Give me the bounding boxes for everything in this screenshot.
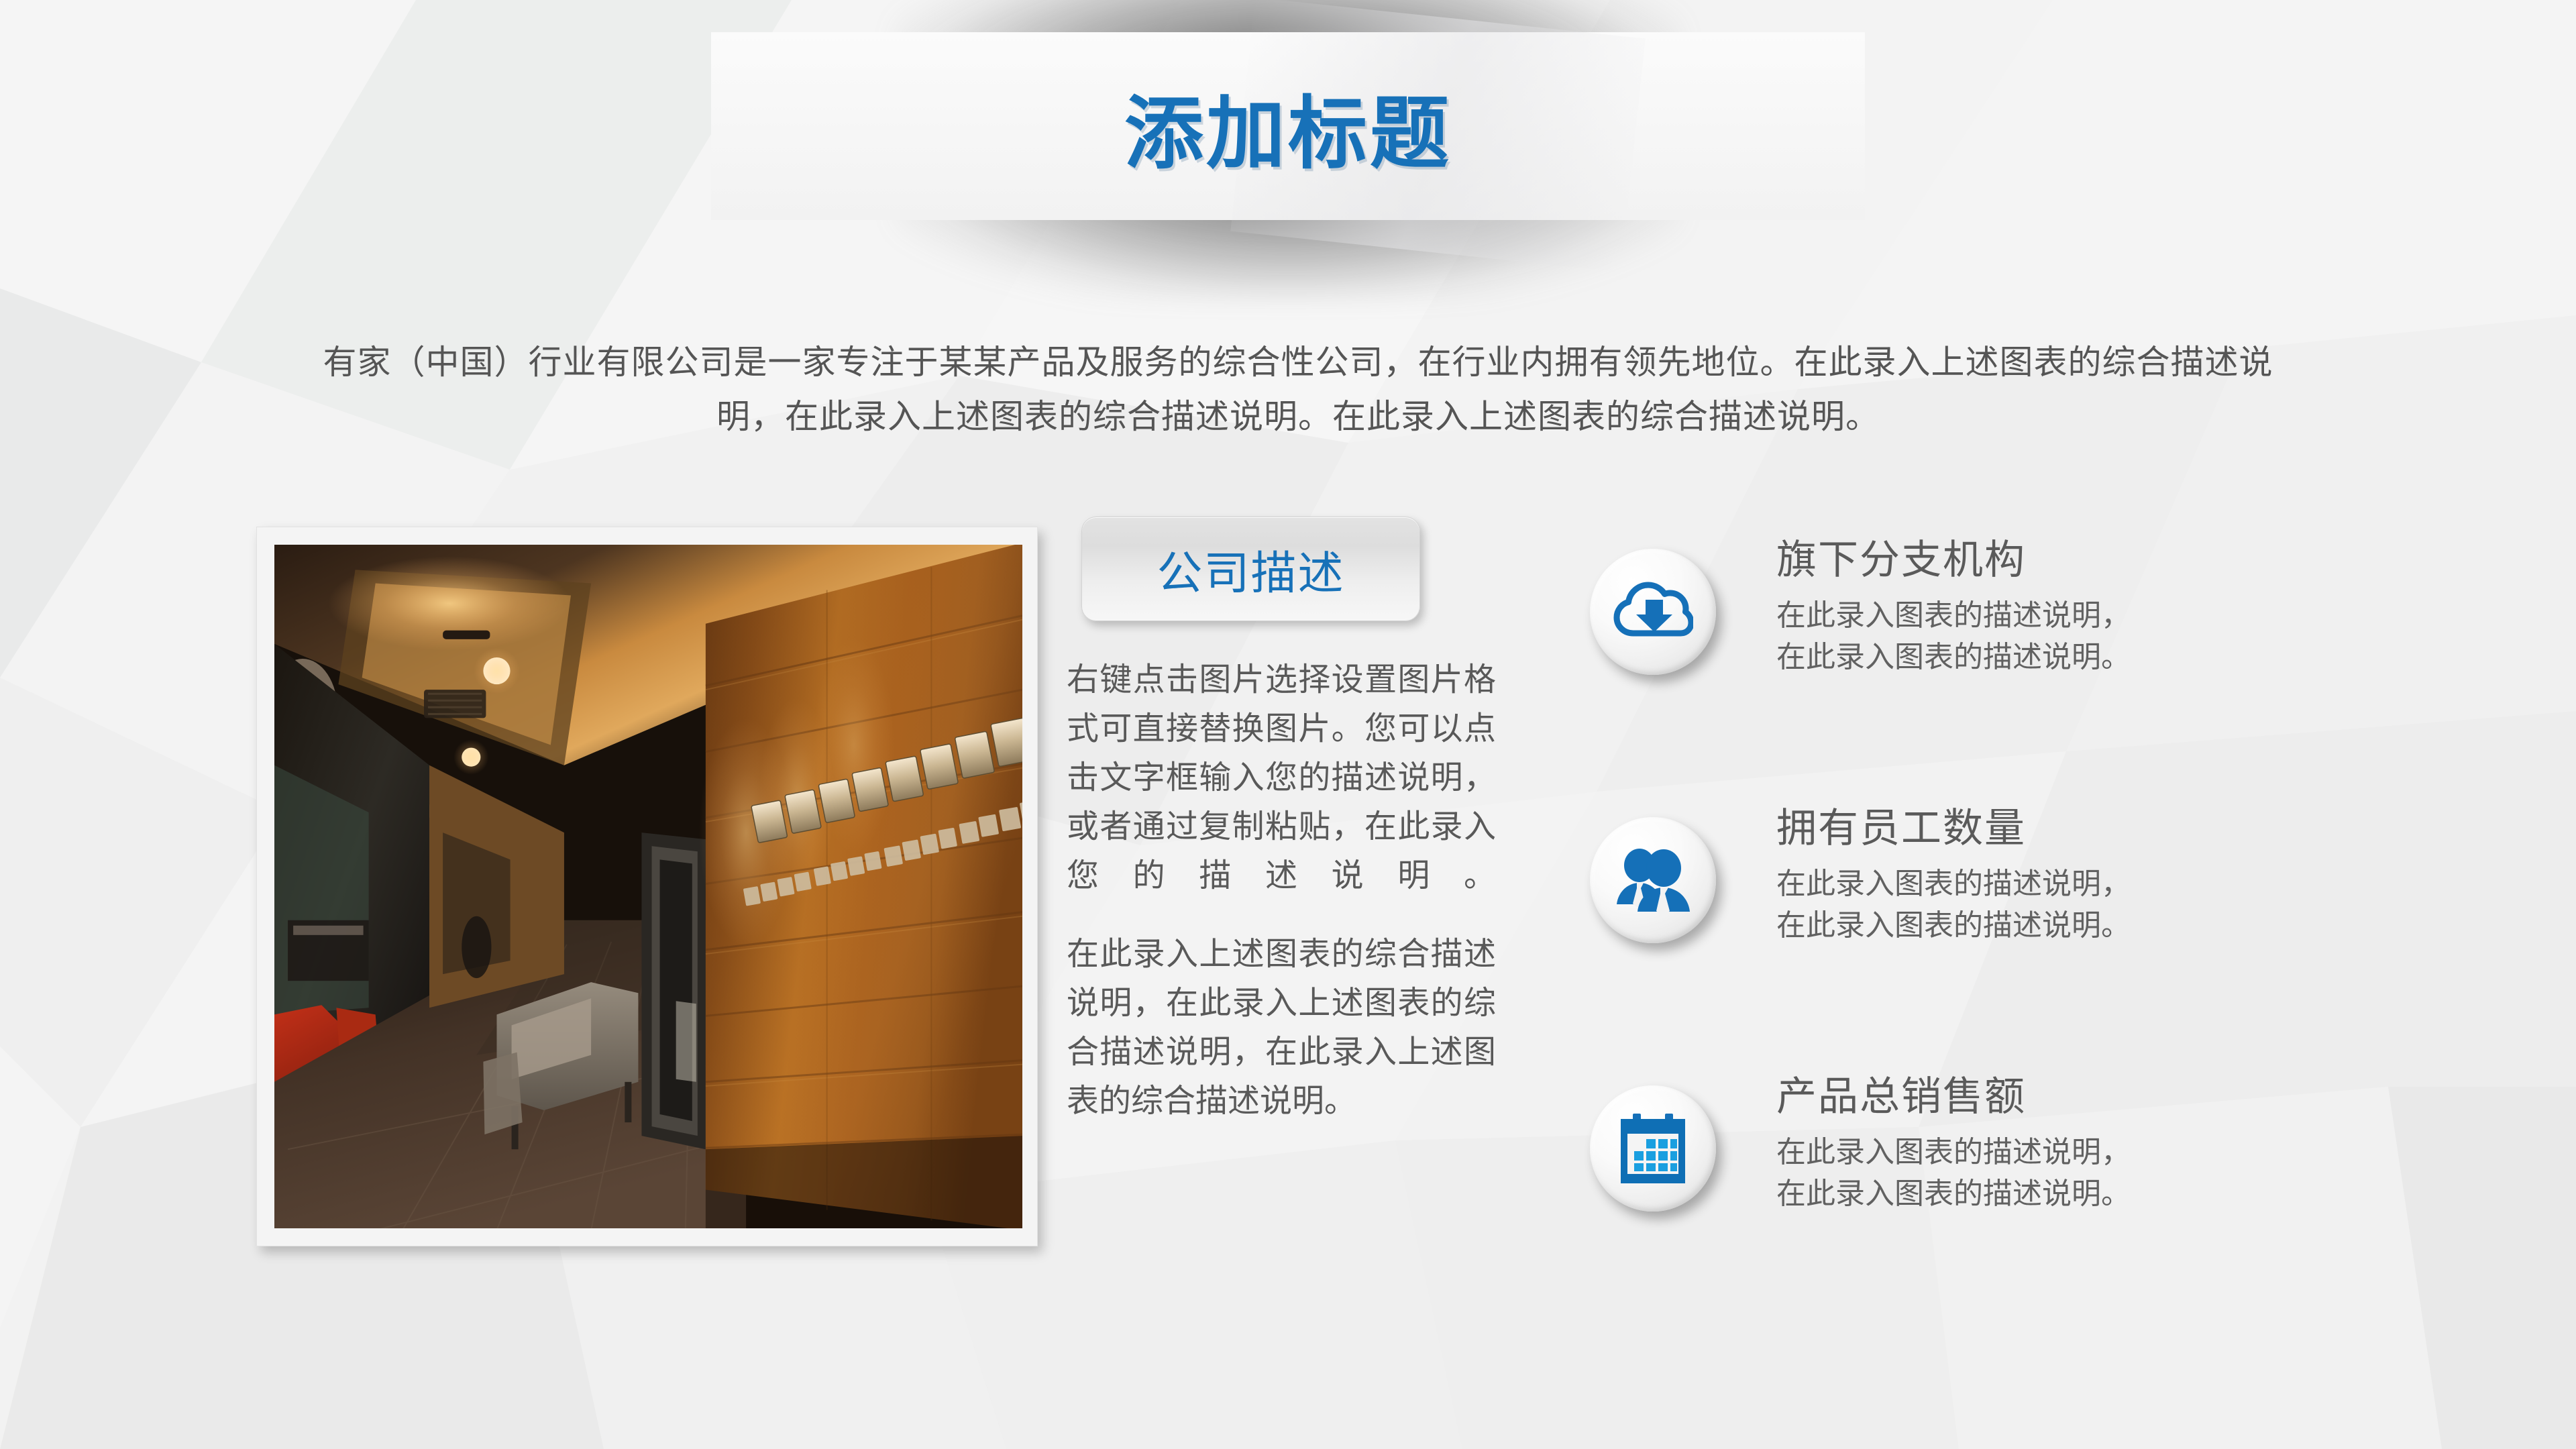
feature-description-line: 在此录入图表的描述说明， <box>1776 1132 2367 1173</box>
feature-description-line: 在此录入图表的描述说明。 <box>1776 637 2367 678</box>
slide-canvas: 添加标题 有家（中国）行业有限公司是一家专注于某某产品及服务的综合性公司，在行业… <box>0 0 2576 1449</box>
feature-item[interactable]: 拥有员工数量 在此录入图表的描述说明， 在此录入图表的描述说明。 <box>1590 805 2381 1073</box>
feature-description-line: 在此录入图表的描述说明， <box>1776 863 2367 905</box>
feature-text: 拥有员工数量 在此录入图表的描述说明， 在此录入图表的描述说明。 <box>1776 805 2367 947</box>
feature-description-line: 在此录入图表的描述说明， <box>1776 595 2367 637</box>
office-photo <box>274 545 1022 1228</box>
feature-description: 在此录入图表的描述说明， 在此录入图表的描述说明。 <box>1776 863 2367 947</box>
title-banner: 添加标题 <box>711 32 1865 220</box>
feature-description-line: 在此录入图表的描述说明。 <box>1776 905 2367 947</box>
feature-description: 在此录入图表的描述说明， 在此录入图表的描述说明。 <box>1776 595 2367 679</box>
description-panel: 公司描述 右键点击图片选择设置图片格式可直接替换图片。您可以点击文字框输入您的描… <box>1067 517 1496 1126</box>
calendar-icon <box>1615 1111 1690 1186</box>
office-photo-container <box>256 527 1040 1248</box>
feature-description-line: 在此录入图表的描述说明。 <box>1776 1173 2367 1215</box>
feature-icon-badge <box>1590 817 1716 943</box>
feature-icon-badge <box>1590 549 1716 675</box>
feature-text: 产品总销售额 在此录入图表的描述说明， 在此录入图表的描述说明。 <box>1776 1073 2367 1216</box>
company-description-button-label: 公司描述 <box>1157 536 1344 602</box>
feature-icon-badge <box>1590 1085 1716 1212</box>
feature-title: 产品总销售额 <box>1776 1073 2367 1120</box>
company-description-button[interactable]: 公司描述 <box>1081 517 1420 621</box>
feature-item[interactable]: 旗下分支机构 在此录入图表的描述说明， 在此录入图表的描述说明。 <box>1590 537 2381 805</box>
feature-title: 拥有员工数量 <box>1776 805 2367 851</box>
feature-list: 旗下分支机构 在此录入图表的描述说明， 在此录入图表的描述说明。 <box>1590 537 2381 1342</box>
feature-text: 旗下分支机构 在此录入图表的描述说明， 在此录入图表的描述说明。 <box>1776 537 2367 679</box>
intro-paragraph: 有家（中国）行业有限公司是一家专注于某某产品及服务的综合性公司，在行业内拥有领先… <box>295 335 2301 444</box>
feature-description: 在此录入图表的描述说明， 在此录入图表的描述说明。 <box>1776 1132 2367 1216</box>
office-photo-illustration <box>274 545 1022 1228</box>
feature-title: 旗下分支机构 <box>1776 537 2367 583</box>
page-title: 添加标题 <box>711 32 1865 220</box>
feature-item[interactable]: 产品总销售额 在此录入图表的描述说明， 在此录入图表的描述说明。 <box>1590 1073 2381 1342</box>
description-paragraph-1: 右键点击图片选择设置图片格式可直接替换图片。您可以点击文字框输入您的描述说明，或… <box>1067 656 1496 901</box>
photo-frame <box>256 527 1038 1246</box>
users-group-icon <box>1613 840 1693 920</box>
cloud-download-icon <box>1613 572 1693 652</box>
description-paragraph-2: 在此录入上述图表的综合描述说明，在此录入上述图表的综合描述说明，在此录入上述图表… <box>1067 930 1496 1126</box>
